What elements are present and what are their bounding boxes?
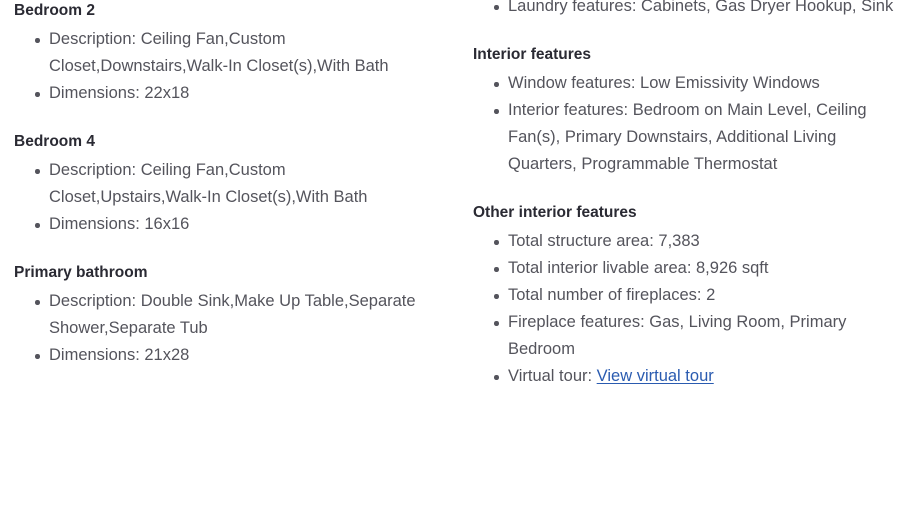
list-item: Interior features: Bedroom on Main Level…: [473, 97, 905, 178]
facts-list-interior-features: Window features: Low Emissivity Windows …: [473, 70, 905, 178]
section-other-interior-features: Other interior features Total structure …: [473, 202, 905, 390]
list-item: Total structure area: 7,383: [473, 228, 905, 255]
facts-list-bedroom-4: Description: Ceiling Fan,Custom Closet,U…: [14, 157, 446, 238]
facts-list-other-interior-features: Total structure area: 7,383 Total interi…: [473, 228, 905, 390]
section-heading-primary-bathroom: Primary bathroom: [14, 262, 446, 284]
list-item: Total number of fireplaces: 2: [473, 282, 905, 309]
list-item: Description: Double Sink,Make Up Table,S…: [14, 288, 446, 342]
section-bedroom-4: Bedroom 4 Description: Ceiling Fan,Custo…: [14, 131, 446, 238]
list-item: Dimensions: 16x16: [14, 211, 446, 238]
list-item: Dimensions: 21x28: [14, 342, 446, 369]
section-bedroom-2: Bedroom 2 Description: Ceiling Fan,Custo…: [14, 0, 446, 107]
virtual-tour-label: Virtual tour:: [508, 367, 597, 385]
section-primary-bathroom: Primary bathroom Description: Double Sin…: [14, 262, 446, 369]
facts-list-appliances: Microwave, Refrigerator, Wine Refrigerat…: [473, 0, 905, 20]
view-virtual-tour-link[interactable]: View virtual tour: [597, 367, 714, 385]
list-item: Description: Ceiling Fan,Custom Closet,U…: [14, 157, 446, 211]
list-item: Fireplace features: Gas, Living Room, Pr…: [473, 309, 905, 363]
list-item: Dimensions: 22x18: [14, 80, 446, 107]
list-item: Total interior livable area: 8,926 sqft: [473, 255, 905, 282]
section-heading-interior-features: Interior features: [473, 44, 905, 66]
left-column: Bedroom 2 Description: Ceiling Fan,Custo…: [14, 0, 446, 369]
list-item-virtual-tour: Virtual tour: View virtual tour: [473, 363, 905, 390]
property-details-panel: Bedroom 2 Description: Ceiling Fan,Custo…: [0, 0, 912, 523]
list-item: Window features: Low Emissivity Windows: [473, 70, 905, 97]
list-item: Laundry features: Cabinets, Gas Dryer Ho…: [473, 0, 905, 20]
list-item: Description: Ceiling Fan,Custom Closet,D…: [14, 26, 446, 80]
section-interior-features: Interior features Window features: Low E…: [473, 44, 905, 178]
section-heading-bedroom-4: Bedroom 4: [14, 131, 446, 153]
section-appliances-clipped: Microwave, Refrigerator, Wine Refrigerat…: [473, 0, 905, 20]
facts-list-bedroom-2: Description: Ceiling Fan,Custom Closet,D…: [14, 26, 446, 107]
right-column: Microwave, Refrigerator, Wine Refrigerat…: [473, 0, 905, 390]
section-heading-bedroom-2: Bedroom 2: [14, 0, 446, 22]
facts-list-primary-bathroom: Description: Double Sink,Make Up Table,S…: [14, 288, 446, 369]
section-heading-other-interior-features: Other interior features: [473, 202, 905, 224]
